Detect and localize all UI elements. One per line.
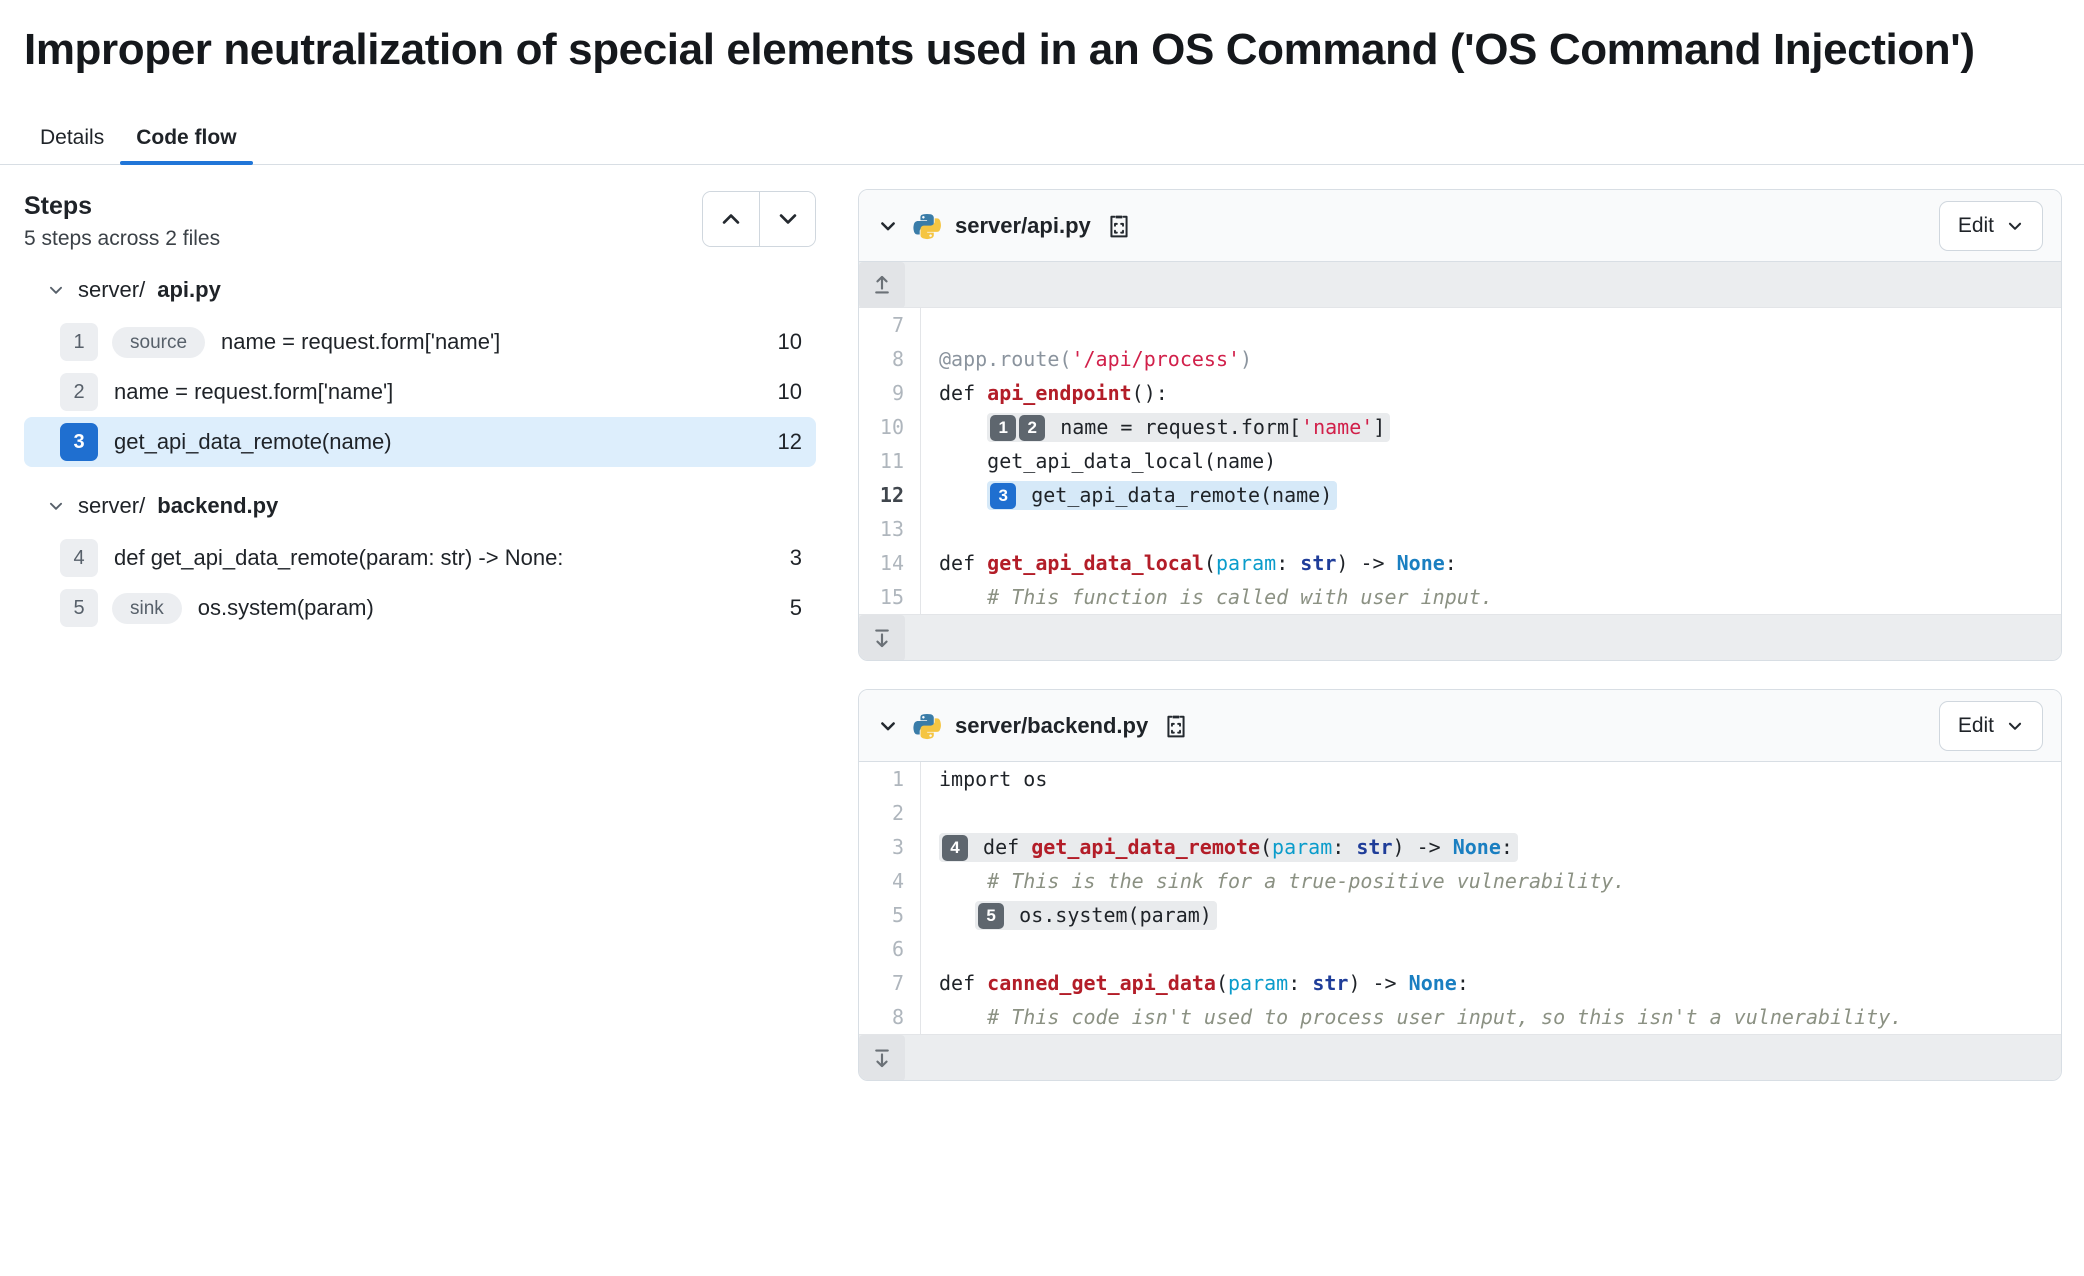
edit-button[interactable]: Edit [1939,201,2043,251]
line-content: def canned_get_api_data(param: str) -> N… [921,966,2061,1000]
code-line: 6 [859,932,2061,966]
step-line-number: 12 [758,429,802,455]
step-row[interactable]: 5 sink os.system(param) 5 [24,583,816,633]
steps-subtitle: 5 steps across 2 files [24,227,220,251]
step-badge[interactable]: 1 [990,415,1016,441]
expand-down-button[interactable] [859,1035,905,1081]
step-text: name = request.form['name'] [114,379,393,405]
step-number: 3 [60,423,98,461]
line-number: 11 [859,444,921,478]
line-content: get_api_data_local(name) [921,444,2061,478]
step-text: get_api_data_remote(name) [114,429,392,455]
tab-details[interactable]: Details [24,127,120,164]
step-list-api: 1 source name = request.form['name'] 10 … [24,317,816,467]
chevron-up-icon [720,208,742,230]
line-number: 14 [859,546,921,580]
code-card-api: server/api.py Edit [858,189,2062,661]
step-file-dir: server/ [78,493,145,519]
expand-down-bar [859,614,2061,660]
line-content: @app.route('/api/process') [921,342,2061,376]
steps-title: Steps [24,191,220,221]
chevron-down-icon [46,281,66,299]
line-number: 7 [859,966,921,1000]
line-number: 13 [859,512,921,546]
step-tag-sink: sink [112,593,182,624]
step-list-backend: 4 def get_api_data_remote(param: str) ->… [24,533,816,633]
python-icon [913,212,941,240]
code-body-backend: 1import os 2 34 def get_api_data_remote(… [859,762,2061,1034]
edit-button-label: Edit [1958,714,1994,738]
code-card-header: server/api.py Edit [859,190,2061,262]
code-line: 15 # This function is called with user i… [859,580,2061,614]
expand-down-button[interactable] [859,615,905,661]
step-number: 1 [60,323,98,361]
code-line: 14def get_api_data_local(param: str) -> … [859,546,2061,580]
step-tag-source: source [112,327,205,358]
step-badge[interactable]: 2 [1019,415,1045,441]
next-step-button[interactable] [759,192,815,246]
code-card-backend: server/backend.py Edit 1import os [858,689,2062,1081]
line-content: 5 os.system(param) [921,898,2061,932]
line-number: 8 [859,1000,921,1034]
step-nav-group [702,191,816,247]
line-number: 15 [859,580,921,614]
chevron-down-icon [777,208,799,230]
tab-code-flow[interactable]: Code flow [120,127,252,164]
step-file-name: backend.py [157,493,278,519]
code-line: 7 [859,308,2061,342]
chevron-down-icon[interactable] [877,716,899,736]
expand-down-icon [870,1046,894,1070]
steps-header-text: Steps 5 steps across 2 files [24,191,220,251]
code-line: 8@app.route('/api/process') [859,342,2061,376]
line-number: 12 [859,478,921,512]
step-file-header-api[interactable]: server/api.py [24,273,816,307]
step-row[interactable]: 1 source name = request.form['name'] 10 [24,317,816,367]
step-file-header-backend[interactable]: server/backend.py [24,489,816,523]
expand-up-button[interactable] [859,262,905,308]
code-line: 34 def get_api_data_remote(param: str) -… [859,830,2061,864]
steps-header: Steps 5 steps across 2 files [24,191,816,251]
step-row-selected[interactable]: 3 get_api_data_remote(name) 12 [24,417,816,467]
chevron-down-icon [2006,217,2024,235]
code-line: 4 # This is the sink for a true-positive… [859,864,2061,898]
copy-icon[interactable] [1107,213,1131,239]
steps-pane: Steps 5 steps across 2 files [0,165,840,633]
line-number: 9 [859,376,921,410]
line-number: 10 [859,410,921,444]
page-title: Improper neutralization of special eleme… [0,0,2010,77]
main-split: Steps 5 steps across 2 files [0,165,2084,1109]
line-number: 7 [859,308,921,342]
step-text: name = request.form['name'] [221,329,500,355]
step-line-number: 10 [758,329,802,355]
code-line: 5 5 os.system(param) [859,898,2061,932]
step-number: 2 [60,373,98,411]
line-content: import os [921,762,2061,796]
step-text: os.system(param) [198,595,374,621]
chevron-down-icon [46,497,66,515]
step-row[interactable]: 4 def get_api_data_remote(param: str) ->… [24,533,816,583]
step-file-group-backend: server/backend.py 4 def get_api_data_rem… [24,489,816,633]
expand-down-icon [870,626,894,650]
line-number: 3 [859,830,921,864]
step-badge[interactable]: 4 [942,835,968,861]
code-line: 7def canned_get_api_data(param: str) -> … [859,966,2061,1000]
line-content: # This is the sink for a true-positive v… [921,864,2061,898]
code-line: 8 # This code isn't used to process user… [859,1000,2061,1034]
code-line: 11 get_api_data_local(name) [859,444,2061,478]
step-number: 5 [60,589,98,627]
line-content: # This code isn't used to process user i… [921,1000,2061,1034]
line-number: 2 [859,796,921,830]
previous-step-button[interactable] [703,192,759,246]
code-line: 10 12 name = request.form['name'] [859,410,2061,444]
code-flow-page: Improper neutralization of special eleme… [0,0,2084,1276]
line-number: 4 [859,864,921,898]
step-number: 4 [60,539,98,577]
step-line-number: 5 [770,595,802,621]
step-badge[interactable]: 3 [990,483,1016,509]
line-number: 6 [859,932,921,966]
line-number: 5 [859,898,921,932]
code-line: 13 [859,512,2061,546]
expand-up-bar [859,262,2061,308]
line-content: 12 name = request.form['name'] [921,410,2061,444]
expand-up-icon [870,273,894,297]
step-file-dir: server/ [78,277,145,303]
edit-button[interactable]: Edit [1939,701,2043,751]
tabbar: Details Code flow [0,103,2084,165]
step-text: def get_api_data_remote(param: str) -> N… [114,545,563,571]
line-number: 1 [859,762,921,796]
chevron-down-icon[interactable] [877,216,899,236]
code-body-api: 7 8@app.route('/api/process') 9def api_e… [859,308,2061,614]
code-card-filename: server/backend.py [955,713,1148,739]
code-pane: server/api.py Edit [840,165,2084,1109]
line-content: def get_api_data_local(param: str) -> No… [921,546,2061,580]
code-line: 1import os [859,762,2061,796]
code-line-selected: 12 3 get_api_data_remote(name) [859,478,2061,512]
step-file-group-api: server/api.py 1 source name = request.fo… [24,273,816,467]
step-line-number: 3 [770,545,802,571]
line-content: 4 def get_api_data_remote(param: str) ->… [921,830,2061,864]
step-row[interactable]: 2 name = request.form['name'] 10 [24,367,816,417]
step-badge[interactable]: 5 [978,903,1004,929]
code-line: 2 [859,796,2061,830]
code-card-filename: server/api.py [955,213,1091,239]
code-line: 9def api_endpoint(): [859,376,2061,410]
step-file-name: api.py [157,277,221,303]
line-content: def api_endpoint(): [921,376,2061,410]
step-line-number: 10 [758,379,802,405]
expand-down-bar [859,1034,2061,1080]
line-content: 3 get_api_data_remote(name) [921,478,2061,512]
code-card-header: server/backend.py Edit [859,690,2061,762]
line-number: 8 [859,342,921,376]
copy-icon[interactable] [1164,713,1188,739]
chevron-down-icon [2006,717,2024,735]
line-content: # This function is called with user inpu… [921,580,2061,614]
python-icon [913,712,941,740]
edit-button-label: Edit [1958,214,1994,238]
